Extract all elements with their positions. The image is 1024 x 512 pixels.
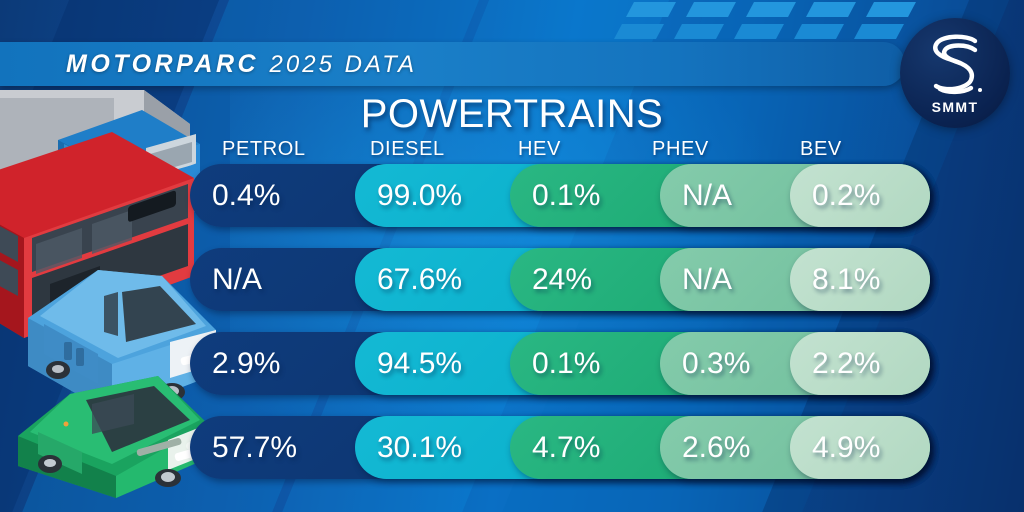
cell-value: 0.4% [212,179,280,213]
column-header-petrol: PETROL [222,138,306,161]
column-headers: PETROL DIESEL HEV PHEV BEV [190,138,930,162]
cell-value: 4.7% [532,431,600,465]
cell-value: 94.5% [377,347,462,381]
cell-value: 99.0% [377,179,462,213]
cell-value: 8.1% [812,263,880,297]
segment-bev: 0.2% [790,164,930,227]
column-header-bev: BEV [800,138,842,161]
brand-subtitle-text: 2025 DATA [270,51,418,78]
column-header-hev: HEV [518,138,561,161]
table-row: 57.7% 30.1% 4.7% 2.6% 4.9% [190,416,930,479]
cell-value: N/A [682,179,732,213]
segment-bev: 8.1% [790,248,930,311]
data-rows: 0.4% 99.0% 0.1% N/A 0.2% N/A 67.6% 24% N… [190,164,930,500]
cell-value: 2.6% [682,431,750,465]
cell-value: 30.1% [377,431,462,465]
smmt-s-logo-icon [927,32,985,98]
segment-bev: 2.2% [790,332,930,395]
column-header-diesel: DIESEL [370,138,445,161]
cell-value: 2.2% [812,347,880,381]
cell-value: 0.3% [682,347,750,381]
table-row: N/A 67.6% 24% N/A 8.1% [190,248,930,311]
table-row: 2.9% 94.5% 0.1% 0.3% 2.2% [190,332,930,395]
cell-value: 2.9% [212,347,280,381]
segment-bev: 4.9% [790,416,930,479]
cell-value: 0.1% [532,179,600,213]
table-row: 0.4% 99.0% 0.1% N/A 0.2% [190,164,930,227]
cell-value: 24% [532,263,592,297]
cell-value: 4.9% [812,431,880,465]
cell-value: 0.1% [532,347,600,381]
infographic-canvas: MOTORPARC 2025 DATA SMMT POWERTRAINS PET… [0,0,1024,512]
cell-value: N/A [682,263,732,297]
brand-title-text: MOTORPARC [66,50,259,78]
dash-pattern [630,0,920,48]
cell-value: 57.7% [212,431,297,465]
cell-value: 67.6% [377,263,462,297]
brand-title: MOTORPARC 2025 DATA [66,50,417,78]
column-header-phev: PHEV [652,138,709,161]
cell-value: 0.2% [812,179,880,213]
cell-value: N/A [212,263,262,297]
